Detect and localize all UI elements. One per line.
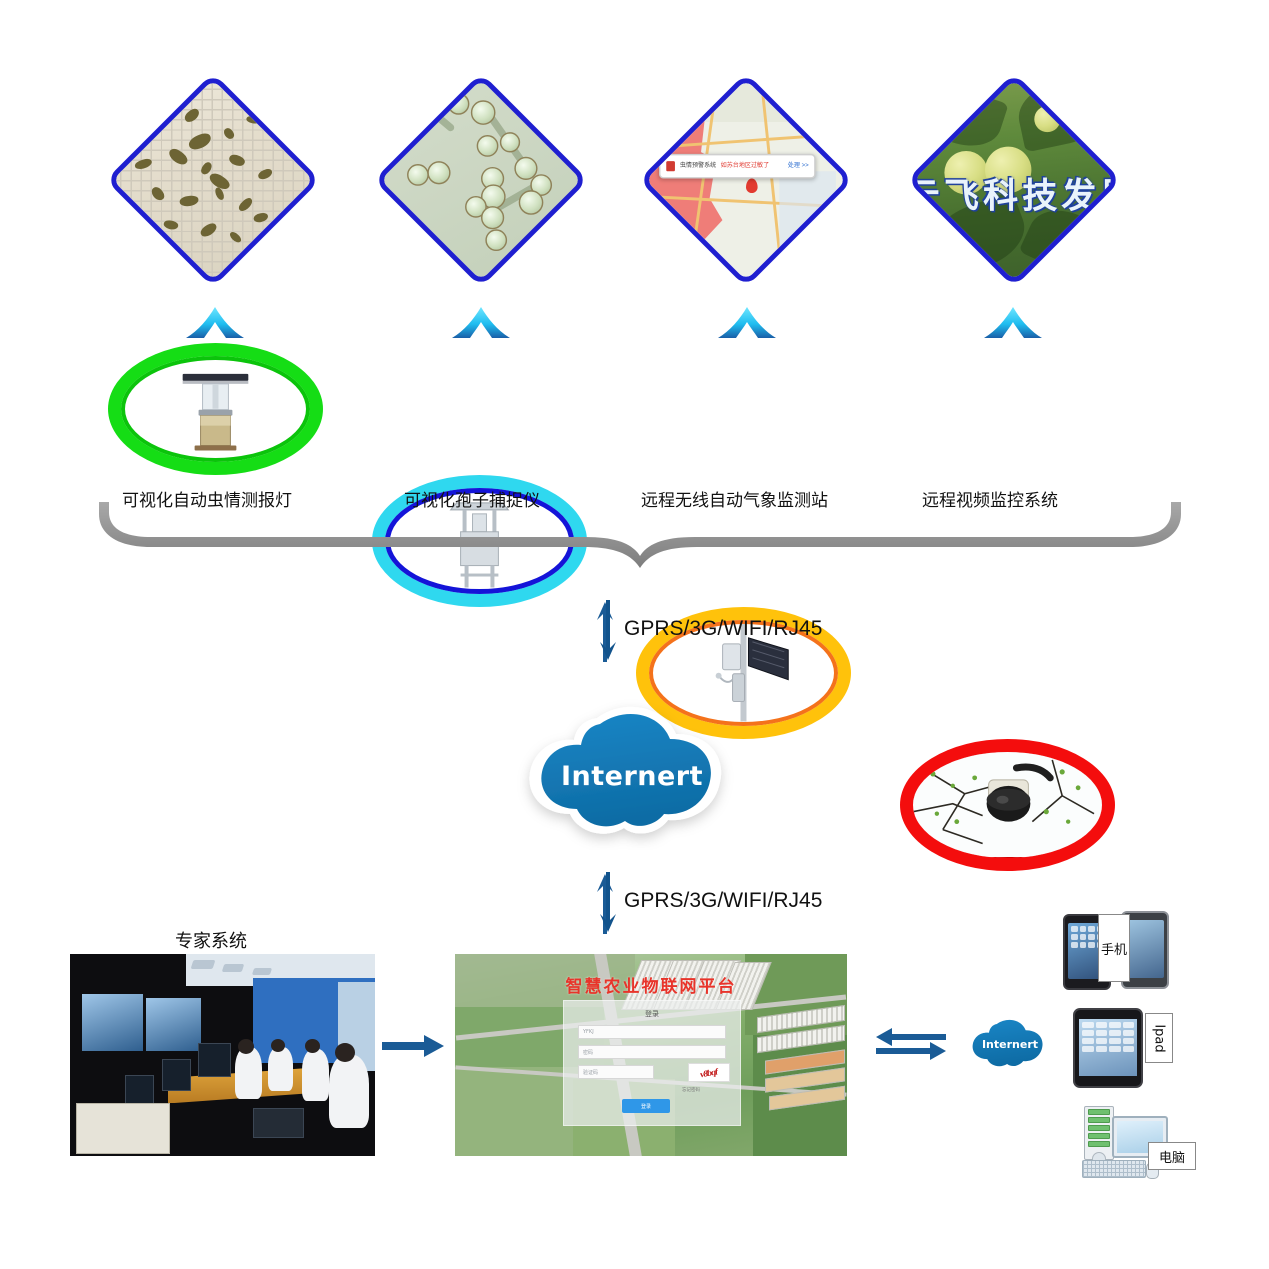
- client-label-ipad-box: Ipad: [1145, 1013, 1173, 1063]
- sensor-tile-warning-map: 虫情预警系统 如苏台地区过敏了 处理 >>: [638, 72, 854, 288]
- login-button[interactable]: 登录: [622, 1099, 670, 1113]
- pest-warning-map-photo: 虫情预警系统 如苏台地区过敏了 处理 >>: [643, 77, 849, 283]
- client-label-phone-box: 手机: [1098, 914, 1130, 982]
- iot-platform-screenshot[interactable]: 智慧农业物联网平台 登录 YFKJ 密码 验证码 v8bqf 忘记密码 登录: [455, 954, 847, 1156]
- arrow-clients-to-platform-icon: [876, 1028, 946, 1064]
- device-ring-insect-trap-lamp[interactable]: [108, 343, 323, 475]
- aggregation-bracket: [95, 500, 1185, 570]
- expert-system-label: 专家系统: [175, 927, 247, 953]
- internet-cloud: Internert: [512, 690, 752, 850]
- client-label-phone: 手机: [1101, 939, 1127, 958]
- diamond-frame-1: [106, 73, 321, 288]
- sensor-tile-insect-tray: [105, 72, 321, 288]
- sensor-tile-spore-microscopy: [373, 72, 589, 288]
- insect-trap-lamp-icon: [121, 356, 310, 461]
- company-watermark: 南云飞科技发展有限公: [911, 168, 1117, 219]
- uplink-label: GPRS/3G/WIFI/RJ45: [624, 617, 822, 641]
- uplink-arrow-icon: [594, 600, 622, 662]
- username-input[interactable]: YFKJ: [578, 1025, 726, 1039]
- chevron-up-icon-3: [718, 307, 776, 341]
- forgot-password-link[interactable]: 忘记密码: [682, 1087, 700, 1093]
- popup-system-name: 虫情预警系统: [680, 161, 716, 170]
- diamond-frame-4: 南云飞科技发展有限公: [907, 73, 1122, 288]
- popup-alert-icon: [667, 160, 676, 170]
- diamond-frame-3: 虫情预警系统 如苏台地区过敏了 处理 >>: [639, 73, 854, 288]
- client-label-pc-box: 电脑: [1148, 1142, 1196, 1170]
- sensor-tile-orchard-video: 南云飞科技发展有限公: [906, 72, 1122, 288]
- password-input[interactable]: 密码: [578, 1045, 726, 1059]
- client-internet-cloud: Internert: [960, 1010, 1060, 1076]
- login-header: 登录: [564, 1009, 740, 1019]
- spore-microscopy-photo: [378, 77, 584, 283]
- chevron-up-icon-1: [186, 307, 244, 341]
- map-pin-icon: [746, 178, 758, 193]
- popup-message: 如苏台地区过敏了: [721, 161, 770, 170]
- expert-system-photo: [70, 954, 375, 1156]
- map-popup[interactable]: 虫情预警系统 如苏台地区过敏了 处理 >>: [660, 153, 816, 178]
- orchard-video-photo: 南云飞科技发展有限公: [911, 77, 1117, 283]
- captcha-image[interactable]: v8bqf: [688, 1063, 730, 1082]
- captcha-text: v8bqf: [700, 1066, 717, 1079]
- chevron-up-icon-2: [452, 307, 510, 341]
- popup-action-link[interactable]: 处理 >>: [788, 161, 809, 170]
- login-panel[interactable]: 登录 YFKJ 密码 验证码 v8bqf 忘记密码 登录: [563, 1000, 741, 1126]
- diamond-frame-2: [374, 73, 589, 288]
- client-cloud-label: Internert: [960, 1038, 1060, 1051]
- captcha-input[interactable]: 验证码: [578, 1065, 654, 1079]
- arrow-expert-to-platform-icon: [382, 1033, 444, 1059]
- insect-tray-photo: [110, 77, 316, 283]
- client-label-ipad: Ipad: [1152, 1024, 1167, 1052]
- downlink-arrow-icon: [594, 872, 622, 934]
- device-ring-dome-camera[interactable]: [900, 739, 1115, 871]
- platform-title: 智慧农业物联网平台: [455, 972, 847, 997]
- downlink-label: GPRS/3G/WIFI/RJ45: [624, 889, 822, 913]
- client-label-pc: 电脑: [1159, 1147, 1185, 1166]
- tablet-icon: [1073, 1008, 1143, 1088]
- cloud-label: Internert: [512, 761, 752, 792]
- chevron-up-icon-4: [984, 307, 1042, 341]
- dome-camera-icon: [913, 752, 1102, 857]
